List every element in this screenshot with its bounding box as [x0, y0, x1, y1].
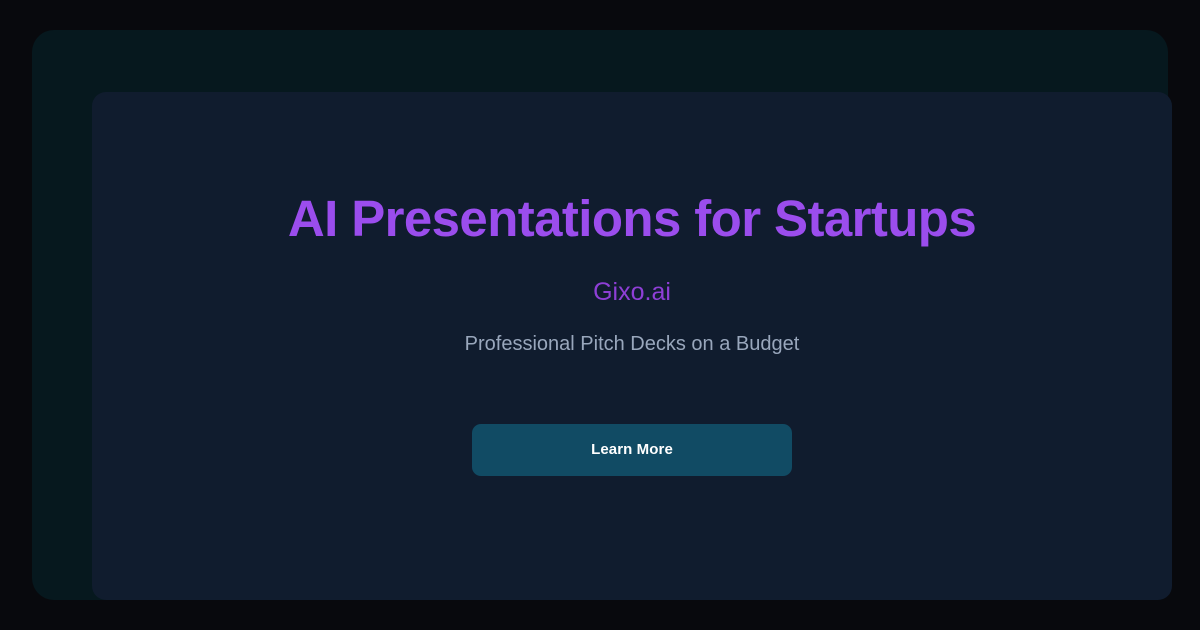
slide-content: AI Presentations for Startups Gixo.ai Pr… [92, 192, 1172, 475]
slide-stage: AI Presentations for Startups Gixo.ai Pr… [0, 0, 1200, 630]
learn-more-button[interactable]: Learn More [472, 424, 792, 476]
slide-surface: AI Presentations for Startups Gixo.ai Pr… [92, 92, 1172, 600]
brand-name: Gixo.ai [593, 247, 671, 307]
slide-title: AI Presentations for Startups [288, 192, 976, 246]
slide-tagline: Professional Pitch Decks on a Budget [465, 307, 800, 356]
cta-container: Learn More [472, 356, 792, 476]
slide-frame: AI Presentations for Startups Gixo.ai Pr… [32, 30, 1168, 600]
